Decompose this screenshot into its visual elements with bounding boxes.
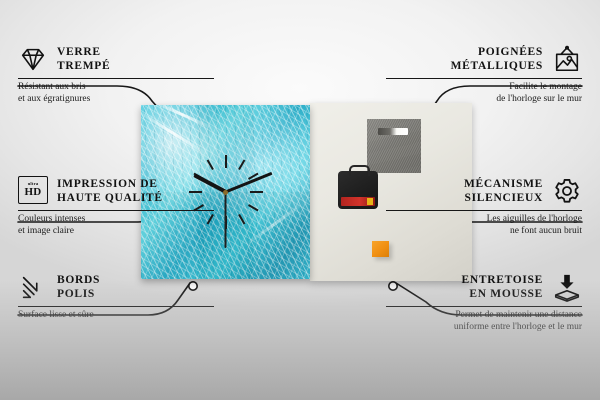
feature-divider	[18, 78, 214, 79]
feature-divider	[386, 210, 582, 211]
feature-title: BORDS POLIS	[57, 273, 100, 301]
feature-mecanisme-silencieux: MÉCANISME SILENCIEUX Les aiguilles de l'…	[386, 176, 582, 238]
feature-description: Surface lisse et sûre	[18, 310, 214, 322]
picture-frame-hanger-icon	[552, 44, 582, 74]
feature-description: Les aiguilles de l'horloge ne font aucun…	[386, 214, 582, 238]
metal-hanger-plate	[367, 119, 421, 173]
hanger-slot	[378, 128, 408, 135]
clock-center-cap	[223, 190, 228, 195]
feature-description: Permet de maintenir une distance uniform…	[386, 310, 582, 334]
feature-bords-polis: BORDS POLIS Surface lisse et sûre	[18, 272, 214, 322]
mechanism-hanger-loop	[349, 165, 370, 176]
feature-divider	[18, 210, 214, 211]
feature-title: VERRE TREMPÉ	[57, 45, 110, 73]
feature-title: POIGNÉES MÉTALLIQUES	[451, 45, 543, 73]
gear-icon	[552, 176, 582, 206]
feature-title: ENTRETOISE EN MOUSSE	[462, 273, 543, 301]
ultra-hd-icon-label-large: HD	[25, 187, 42, 198]
diamond-icon	[18, 44, 48, 74]
clock-second-hand	[225, 192, 227, 248]
feature-entretoise-en-mousse: ENTRETOISE EN MOUSSE Permet de maintenir…	[386, 272, 582, 334]
feature-title: MÉCANISME SILENCIEUX	[464, 177, 543, 205]
feature-header: MÉCANISME SILENCIEUX	[386, 176, 582, 206]
feature-header: VERRE TREMPÉ	[18, 44, 214, 74]
feature-divider	[386, 78, 582, 79]
feature-description: Couleurs intenses et image claire	[18, 214, 214, 238]
feature-impression-haute-qualite: ultra HD IMPRESSION DE HAUTE QUALITÉ Cou…	[18, 176, 214, 238]
battery	[341, 197, 375, 206]
feature-header: POIGNÉES MÉTALLIQUES	[386, 44, 582, 74]
clock-mechanism	[338, 171, 378, 209]
feature-description: Résistant aux bris et aux égratignures	[18, 82, 214, 106]
product-infographic: VERRE TREMPÉ Résistant aux bris et aux é…	[0, 0, 600, 400]
feature-header: ultra HD IMPRESSION DE HAUTE QUALITÉ	[18, 176, 214, 206]
foam-spacer	[372, 241, 389, 257]
ultra-hd-icon: ultra HD	[18, 176, 48, 206]
polished-edges-icon	[18, 272, 48, 302]
feature-header: ENTRETOISE EN MOUSSE	[386, 272, 582, 302]
feature-verre-trempe: VERRE TREMPÉ Résistant aux bris et aux é…	[18, 44, 214, 106]
feature-description: Facilite le montage de l'horloge sur le …	[386, 82, 582, 106]
feature-divider	[386, 306, 582, 307]
feature-title: IMPRESSION DE HAUTE QUALITÉ	[57, 177, 163, 205]
feature-divider	[18, 306, 214, 307]
foam-spacer-icon	[552, 272, 582, 302]
feature-poignees-metalliques: POIGNÉES MÉTALLIQUES Facilite le montage…	[386, 44, 582, 106]
feature-header: BORDS POLIS	[18, 272, 214, 302]
